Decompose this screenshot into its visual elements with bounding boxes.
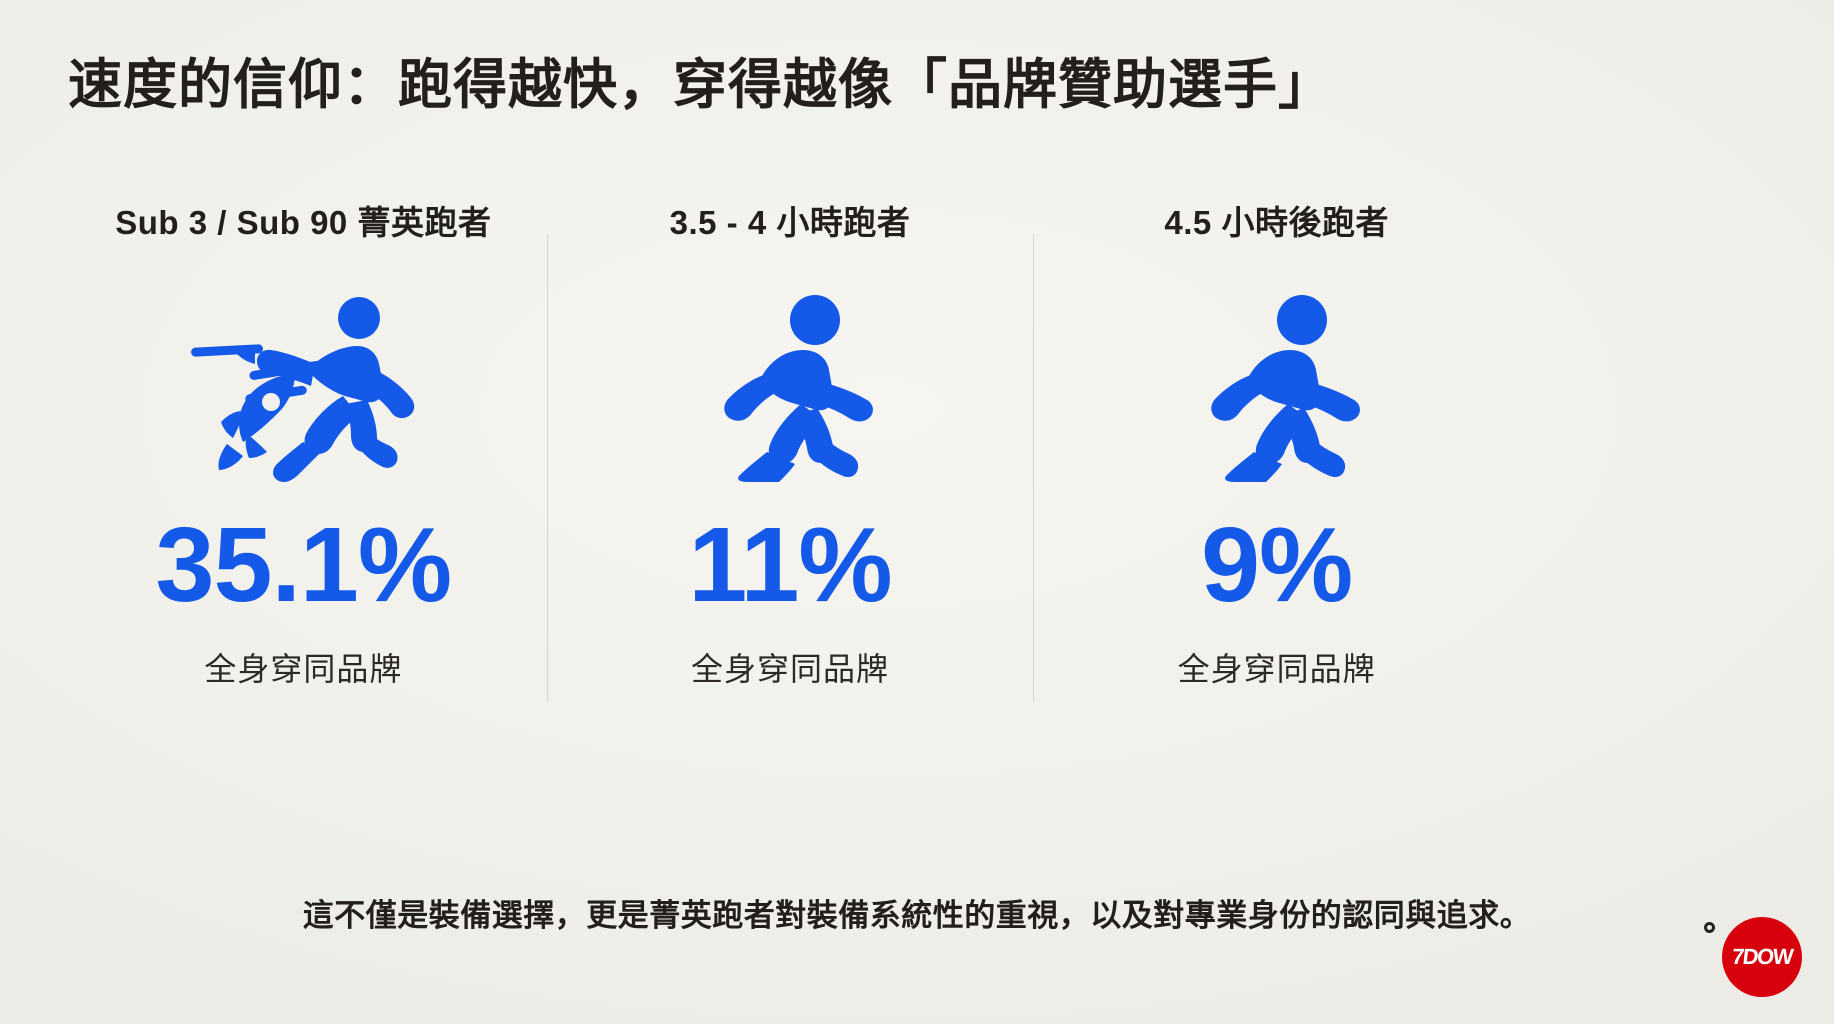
stat-column-elite: Sub 3 / Sub 90 菁英跑者 [60, 176, 547, 716]
running-person-icon [705, 292, 875, 482]
stat-value: 35.1% [156, 512, 452, 618]
slide-canvas: 速度的信仰：跑得越快，穿得越像「品牌贊助選手」 Sub 3 / Sub 90 菁… [0, 0, 1834, 1024]
stat-column-header: 3.5 - 4 小時跑者 [670, 196, 911, 244]
brand-logo-text: 7DOW [1731, 944, 1794, 970]
stat-caption: 全身穿同品牌 [204, 644, 402, 690]
stat-value: 11% [688, 512, 891, 618]
stat-caption: 全身穿同品牌 [1178, 644, 1376, 690]
stat-column-mid: 3.5 - 4 小時跑者 [547, 176, 1034, 716]
stat-value: 9% [1201, 512, 1352, 618]
stat-column-slow: 4.5 小時後跑者 9% 全身穿同品牌 [1033, 176, 1520, 716]
brand-logo-badge: 7DOW [1722, 917, 1802, 997]
sprinting-runner-with-rocket-icon [183, 292, 423, 482]
stat-column-header: Sub 3 / Sub 90 菁英跑者 [115, 196, 491, 244]
cursor-artifact [894, 812, 902, 822]
footnote-text: 這不僅是裝備選擇，更是菁英跑者對裝備系統性的重視，以及對專業身份的認同與追求。 [0, 890, 1834, 935]
page-title: 速度的信仰：跑得越快，穿得越像「品牌贊助選手」 [68, 52, 1333, 120]
stat-columns: Sub 3 / Sub 90 菁英跑者 [60, 176, 1520, 716]
running-person-icon [1192, 292, 1362, 482]
stat-column-header: 4.5 小時後跑者 [1164, 196, 1389, 244]
stat-caption: 全身穿同品牌 [691, 644, 889, 690]
stray-dot-artifact [1704, 922, 1715, 933]
